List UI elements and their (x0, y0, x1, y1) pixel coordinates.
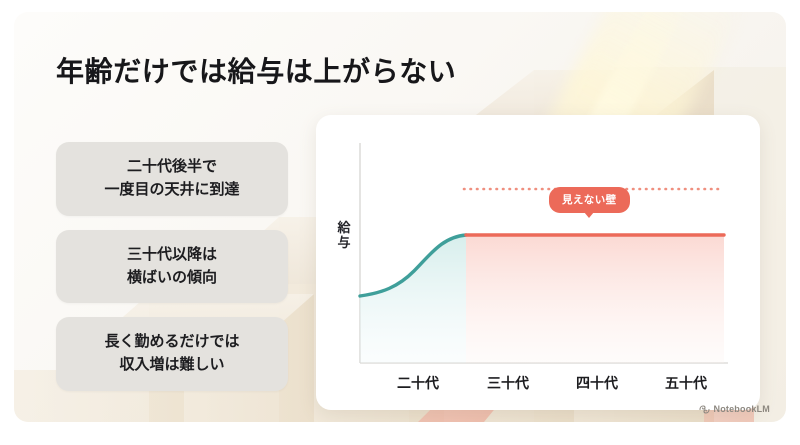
bullet-card-2: 三十代以降は 横ばいの傾向 (56, 230, 288, 304)
page-title: 年齢だけでは給与は上がらない (56, 50, 456, 90)
x-tick-30s: 三十代 (468, 373, 548, 393)
x-tick-40s: 四十代 (557, 373, 637, 393)
notebooklm-icon (699, 405, 710, 414)
x-tick-50s: 五十代 (646, 373, 726, 393)
bullet-card-3-line1: 長く勤めるだけでは (64, 330, 280, 353)
bullet-card-2-line2: 横ばいの傾向 (64, 266, 280, 289)
chart-card: 給 与 二十代 三十代 四十代 五十代 見えない壁 (316, 115, 760, 410)
bullet-card-3: 長く勤めるだけでは 収入増は難しい (56, 317, 288, 391)
y-axis-label-char-1: 給 (334, 221, 354, 236)
bullet-card-1-line2: 一度目の天井に到達 (64, 178, 280, 201)
notebooklm-label: NotebookLM (714, 404, 771, 414)
bullet-card-2-line1: 三十代以降は (64, 243, 280, 266)
bullet-card-1: 二十代後半で 一度目の天井に到達 (56, 142, 288, 216)
bullet-card-1-line1: 二十代後半で (64, 155, 280, 178)
slide-canvas: 年齢だけでは給与は上がらない 二十代後半で 一度目の天井に到達 三十代以降は 横… (14, 12, 786, 422)
salary-line-chart (316, 115, 760, 410)
notebooklm-watermark: NotebookLM (699, 404, 771, 414)
y-axis-label: 給 与 (334, 221, 354, 251)
bullet-card-3-line2: 収入増は難しい (64, 353, 280, 376)
invisible-wall-badge: 見えない壁 (549, 187, 630, 213)
x-tick-20s: 二十代 (378, 373, 458, 393)
bullet-card-list: 二十代後半で 一度目の天井に到達 三十代以降は 横ばいの傾向 長く勤めるだけでは… (56, 142, 288, 405)
y-axis-label-char-2: 与 (334, 236, 354, 251)
